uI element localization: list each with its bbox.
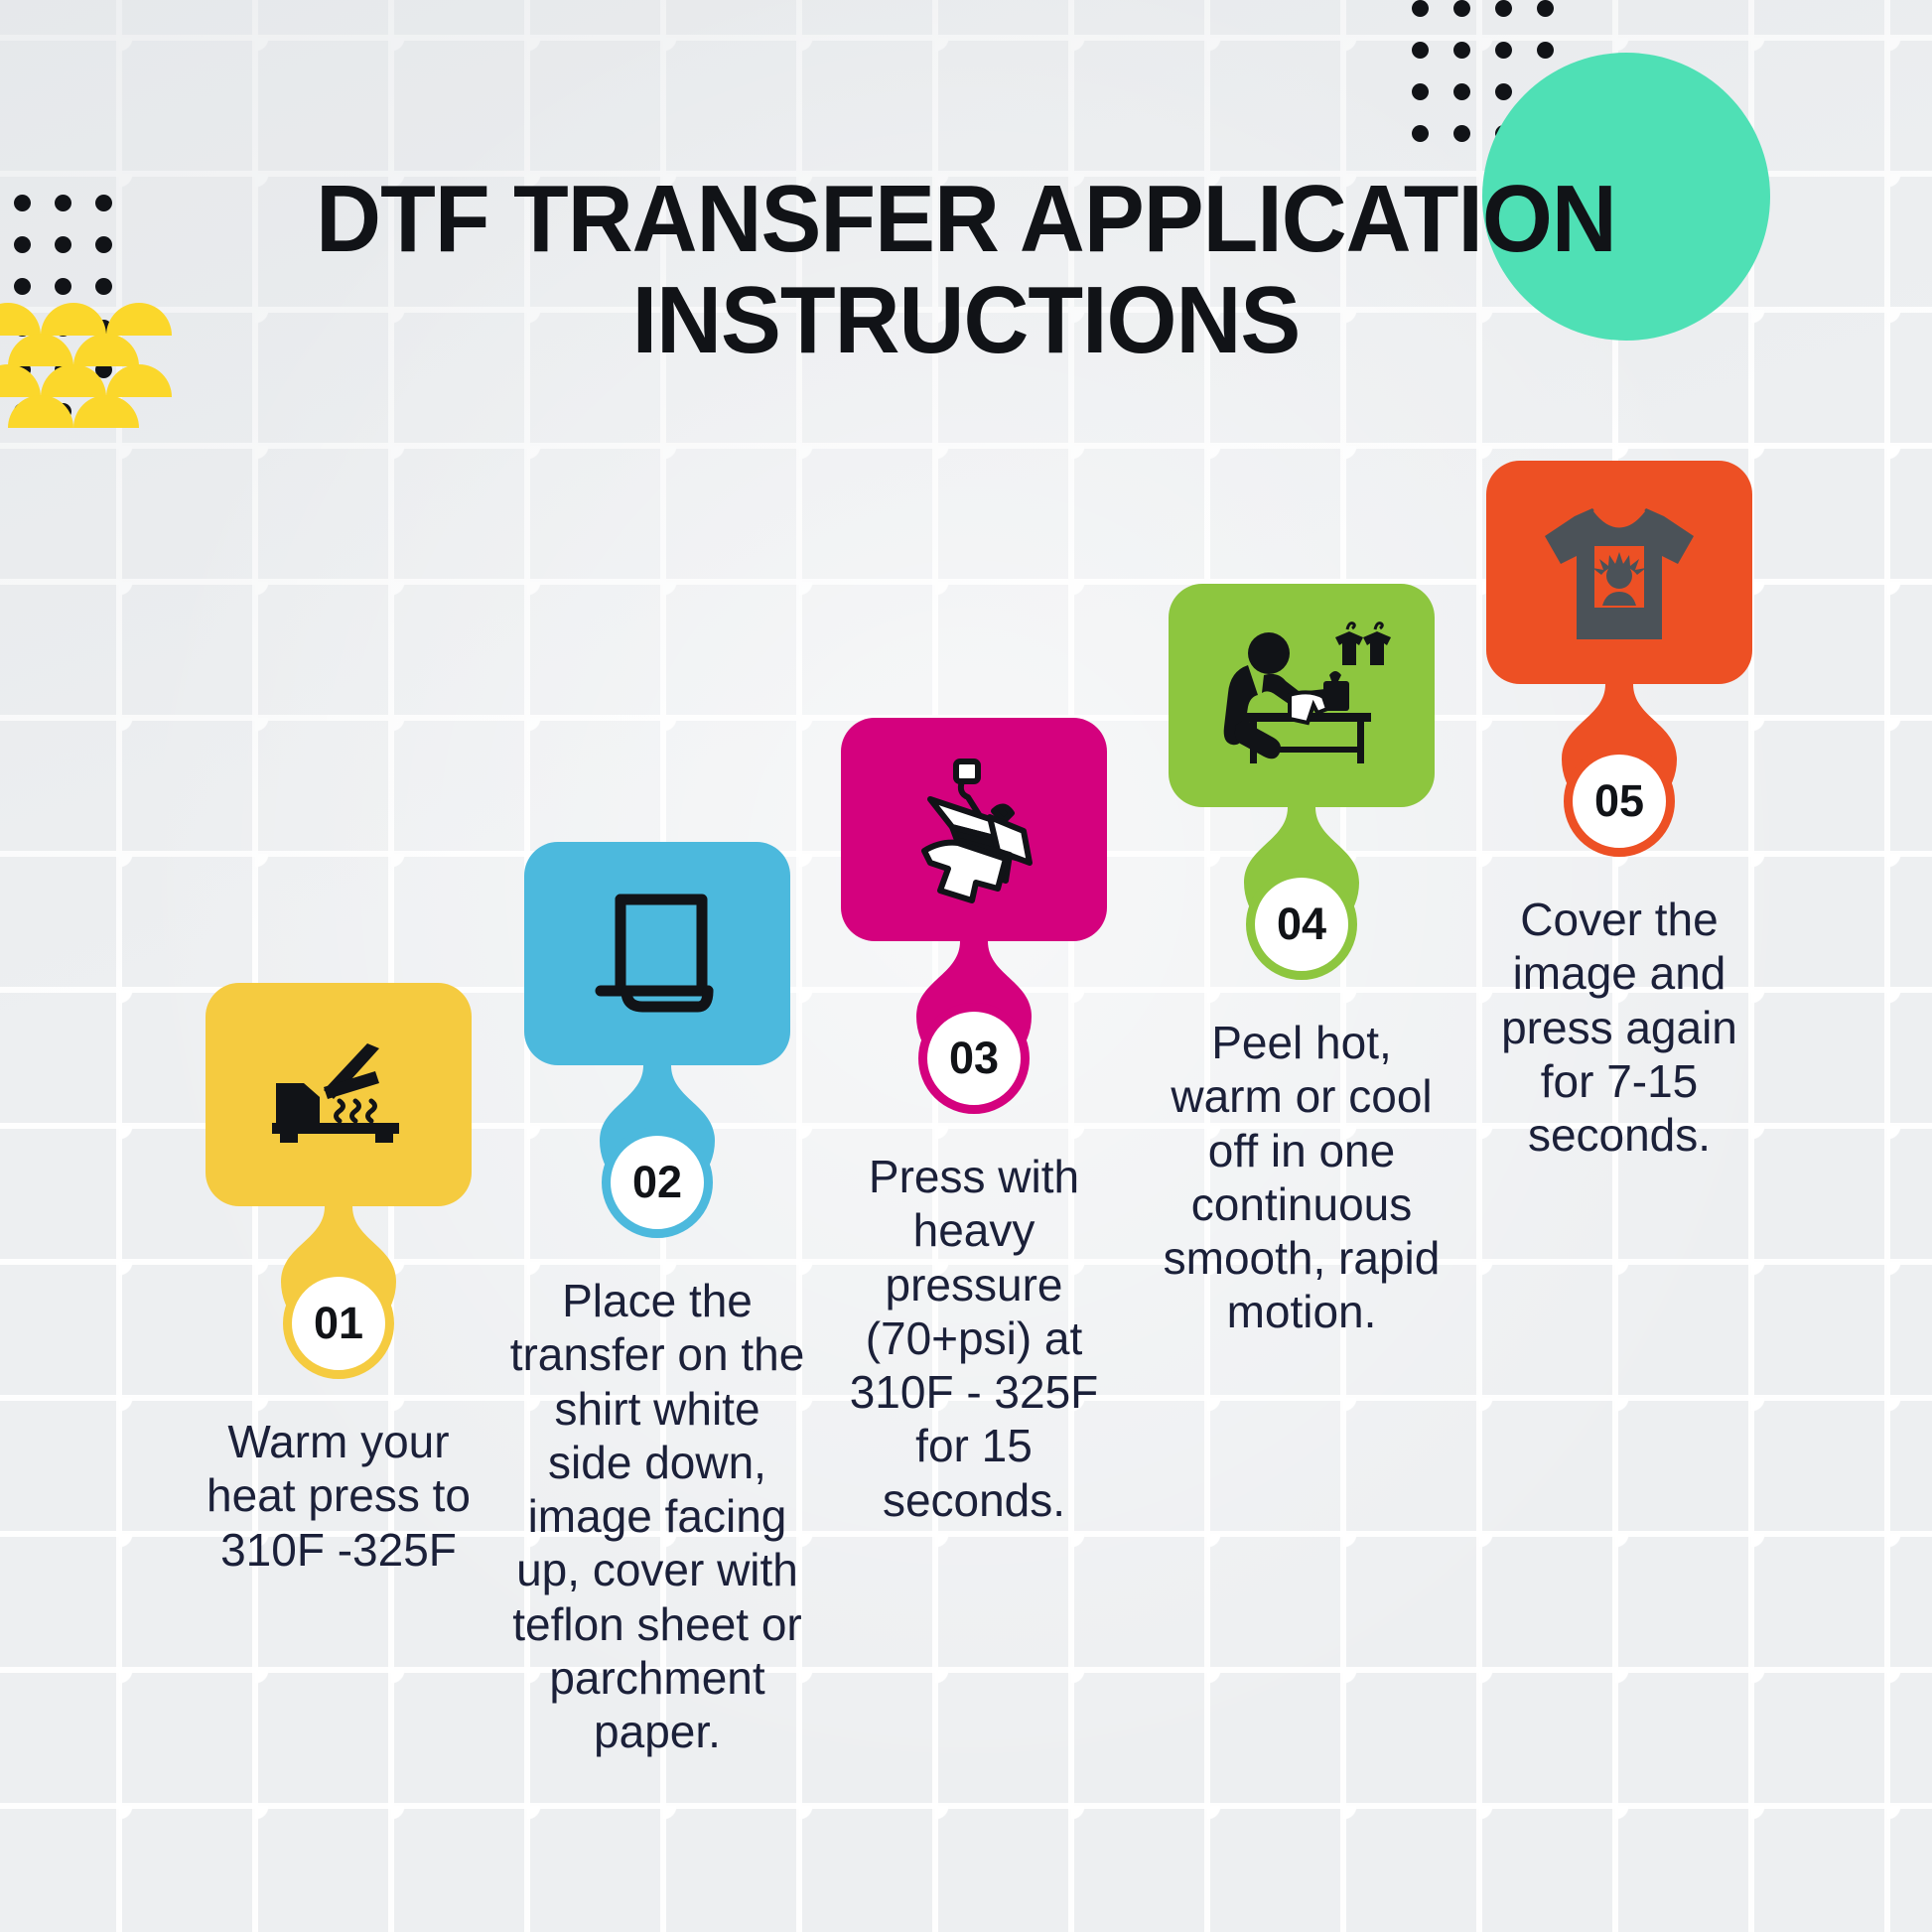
- step-number-text-05: 05: [1594, 775, 1644, 827]
- step-item-05[interactable]: 05 Cover the image and press again for 7…: [1486, 461, 1752, 684]
- step-number-badge-04: 04: [1246, 869, 1357, 980]
- step-number-text-02: 02: [632, 1157, 682, 1208]
- step-number-badge-05: 05: [1564, 746, 1675, 857]
- steps-container: 01 Warm your heat press to 310F -325F: [0, 0, 1932, 1932]
- step-caption-04: Peel hot, warm or cool off in one contin…: [1153, 1016, 1450, 1339]
- step-number-badge-02: 02: [602, 1127, 713, 1238]
- printed-tshirt-icon: [1535, 498, 1704, 647]
- step-icon-card-01[interactable]: [206, 983, 472, 1206]
- step-caption-03: Press with heavy pressure (70+psi) at 31…: [825, 1150, 1123, 1527]
- step-caption-02: Place the transfer on the shirt white si…: [508, 1274, 806, 1758]
- step-caption-05: Cover the image and press again for 7-15…: [1470, 893, 1768, 1162]
- step-item-01[interactable]: 01 Warm your heat press to 310F -325F: [206, 983, 472, 1206]
- step-icon-card-02[interactable]: [524, 842, 790, 1065]
- step-item-04[interactable]: 04 Peel hot, warm or cool off in one con…: [1169, 584, 1435, 807]
- step-caption-01: Warm your heat press to 310F -325F: [190, 1415, 487, 1577]
- step-number-badge-01: 01: [283, 1268, 394, 1379]
- step-number-badge-03: 03: [918, 1003, 1030, 1114]
- worker-pressing-shirt-icon: [1212, 621, 1391, 770]
- step-number-text-04: 04: [1277, 898, 1326, 950]
- step-item-03[interactable]: 03 Press with heavy pressure (70+psi) at…: [841, 718, 1107, 941]
- heat-press-open-icon: [264, 1035, 413, 1155]
- transfer-sheet-icon: [591, 888, 724, 1021]
- step-item-02[interactable]: 02 Place the transfer on the shirt white…: [524, 842, 790, 1065]
- heat-press-machine-icon: [895, 756, 1053, 904]
- step-number-text-03: 03: [949, 1033, 999, 1084]
- step-icon-card-05[interactable]: [1486, 461, 1752, 684]
- step-icon-card-04[interactable]: [1169, 584, 1435, 807]
- step-icon-card-03[interactable]: [841, 718, 1107, 941]
- step-number-text-01: 01: [314, 1298, 363, 1349]
